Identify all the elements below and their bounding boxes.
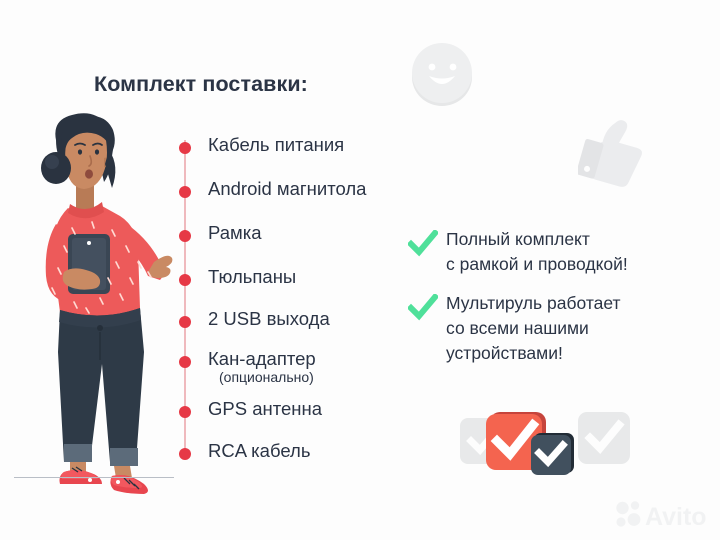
list-item-label: 2 USB выхода bbox=[208, 308, 330, 330]
avito-logo-watermark: Avito bbox=[614, 498, 710, 532]
feature-line: устройствами! bbox=[446, 343, 563, 363]
feature-line: с рамкой и проводкой! bbox=[446, 254, 628, 274]
bullet-dot-icon bbox=[179, 274, 191, 286]
thumbs-up-icon bbox=[578, 112, 652, 194]
bullet-dot-icon bbox=[179, 186, 191, 198]
smiley-face-icon bbox=[408, 40, 476, 108]
list-item-label: Кабель питания bbox=[208, 134, 344, 156]
list-item-sublabel: (опционально) bbox=[219, 369, 314, 385]
list-item-label: Тюльпаны bbox=[208, 266, 296, 288]
promo-card: Комплект поставки: Кабель питания Androi… bbox=[0, 0, 720, 540]
feature-line: Полный комплект bbox=[446, 229, 590, 249]
page-title: Комплект поставки: bbox=[94, 72, 308, 97]
feature-text: Полный комплект с рамкой и проводкой! bbox=[446, 227, 628, 277]
bullet-dot-icon bbox=[179, 142, 191, 154]
feature-line: Мультируль работает bbox=[446, 293, 621, 313]
list-item-label: Кан-адаптер bbox=[208, 348, 316, 370]
list-item-label: Рамка bbox=[208, 222, 262, 244]
list-item-label: RCA кабель bbox=[208, 440, 310, 462]
feature-line: со всеми нашими bbox=[446, 318, 589, 338]
svg-text:Avito: Avito bbox=[645, 503, 707, 531]
bullet-dot-icon bbox=[179, 316, 191, 328]
check-icon bbox=[408, 294, 438, 322]
checkbox-cards-illustration bbox=[460, 404, 630, 494]
bullet-dot-icon bbox=[179, 356, 191, 368]
bullet-dot-icon bbox=[179, 448, 191, 460]
bullet-dot-icon bbox=[179, 406, 191, 418]
bullet-dot-icon bbox=[179, 230, 191, 242]
list-item-label: Android магнитола bbox=[208, 178, 366, 200]
check-icon bbox=[408, 230, 438, 258]
woman-with-tablet-illustration bbox=[8, 112, 176, 502]
list-item-label: GPS антенна bbox=[208, 398, 322, 420]
ground-line bbox=[14, 477, 174, 478]
feature-text: Мультируль работает со всеми нашими устр… bbox=[446, 291, 621, 366]
